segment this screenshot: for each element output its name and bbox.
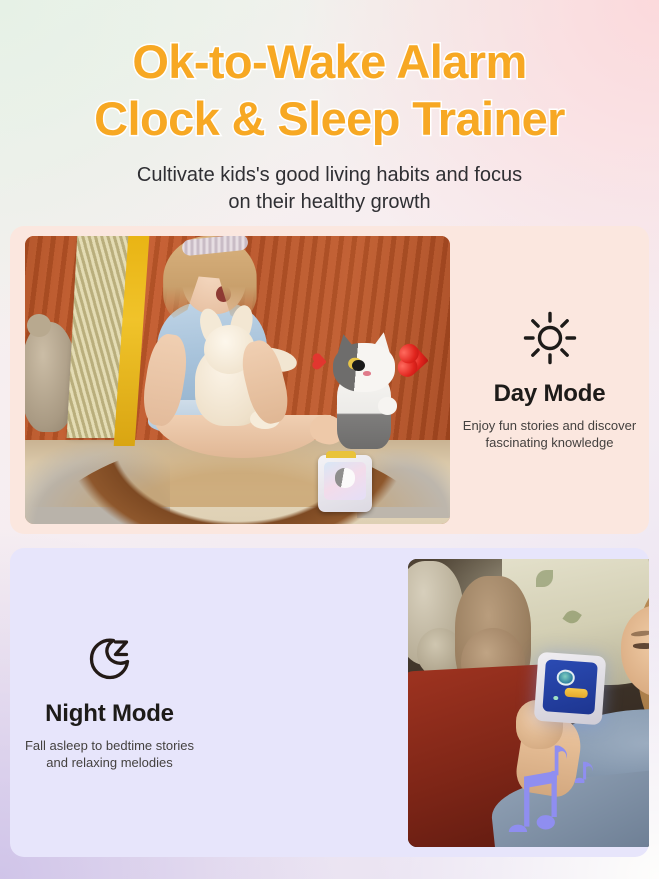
device-screen-bar (564, 687, 587, 697)
night-mode-card: Night Mode Fall asleep to bedtime storie… (10, 548, 649, 857)
device-top-button (326, 451, 355, 458)
page-subtitle-line-1: Cultivate kids's good living habits and … (0, 162, 659, 189)
night-mode-text-block: Night Mode Fall asleep to bedtime storie… (10, 634, 209, 771)
night-mode-description-line-1: Fall asleep to bedtime stories (16, 737, 203, 754)
device-screen-dot (553, 695, 558, 700)
device-screen-day (324, 462, 367, 500)
night-mode-photo (408, 559, 649, 847)
moon-z-icon (82, 634, 138, 684)
page-header: Ok-to-Wake Alarm Clock & Sleep Trainer C… (0, 0, 659, 216)
day-mode-description: Enjoy fun stories and discover fascinati… (456, 417, 643, 451)
night-mode-description: Fall asleep to bedtime stories and relax… (16, 737, 203, 771)
page-title-line-1: Ok-to-Wake Alarm (0, 33, 659, 90)
day-mode-description-line-2: fascinating knowledge (456, 434, 643, 451)
night-mode-description-line-2: and relaxing melodies (16, 754, 203, 771)
day-mode-photo (25, 236, 450, 524)
day-mode-text-block: Day Mode Enjoy fun stories and discover … (450, 310, 649, 451)
page-subtitle: Cultivate kids's good living habits and … (0, 162, 659, 216)
alarm-clock-device-day (318, 455, 372, 513)
page-title-line-2: Clock & Sleep Trainer (0, 90, 659, 147)
day-mode-description-line-1: Enjoy fun stories and discover (456, 417, 643, 434)
teddy-bear-ear (27, 314, 50, 337)
device-screen-night (542, 659, 597, 715)
sleeping-girl-closed-eye (633, 643, 649, 648)
alarm-clock-device-night (533, 651, 606, 725)
product-feature-page: Ok-to-Wake Alarm Clock & Sleep Trainer C… (0, 0, 659, 879)
page-title: Ok-to-Wake Alarm Clock & Sleep Trainer (0, 33, 659, 147)
night-mode-title: Night Mode (16, 700, 203, 728)
day-mode-title: Day Mode (456, 380, 643, 408)
sun-icon (522, 310, 578, 366)
music-note-icon-small (570, 760, 600, 783)
cat-toy-paw (378, 397, 397, 414)
page-subtitle-line-2: on their healthy growth (0, 189, 659, 216)
device-screen-dial (555, 669, 575, 686)
device-screen-cat-avatar (335, 468, 356, 488)
day-mode-card: Day Mode Enjoy fun stories and discover … (10, 226, 649, 534)
